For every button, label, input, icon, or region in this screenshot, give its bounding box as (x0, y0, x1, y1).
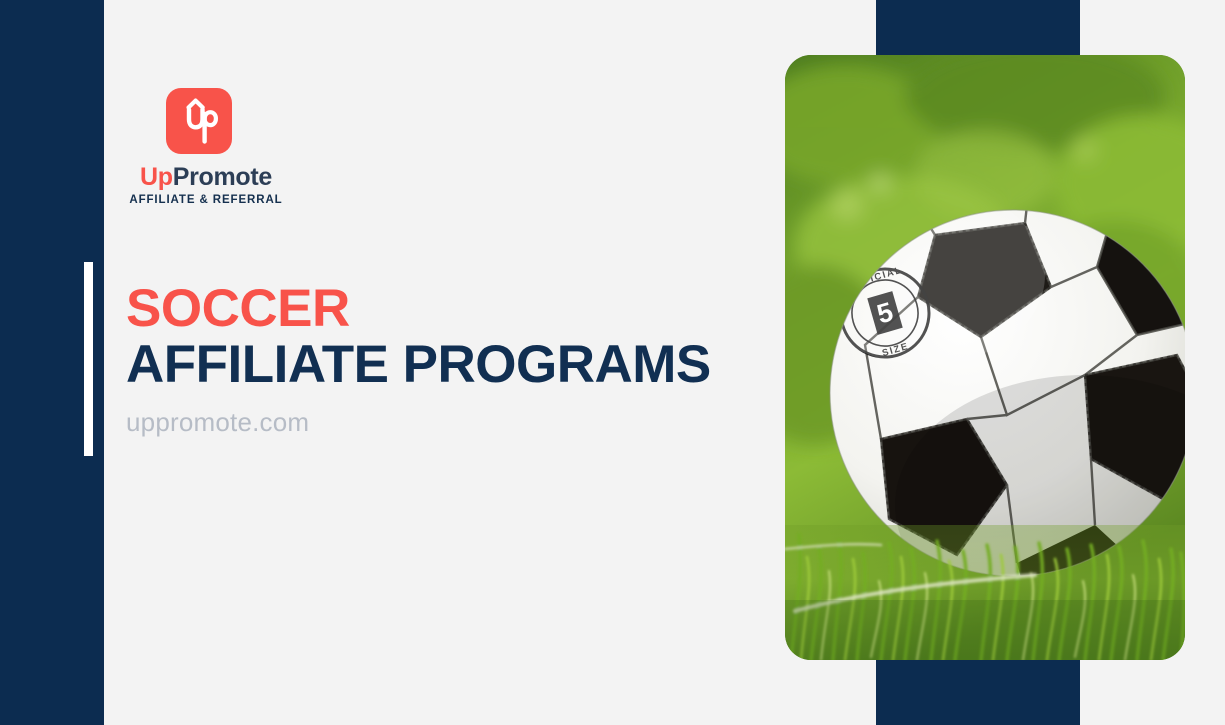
title-line-soccer: SOCCER (126, 283, 746, 334)
banner-canvas: UpPromote AFFILIATE & REFERRAL SOCCER AF… (0, 0, 1225, 725)
wordmark-promote: Promote (173, 163, 272, 191)
headline-block: SOCCER AFFILIATE PROGRAMS uppromote.com (126, 283, 746, 438)
wordmark-up: Up (140, 163, 173, 191)
navy-block-bottom (876, 659, 1080, 725)
site-url-subtitle: uppromote.com (126, 407, 746, 438)
navy-block-top (876, 0, 1080, 57)
soccer-ball-photo: 5 OFFICIAL SIZE (785, 55, 1185, 660)
title-line-affiliate-programs: AFFILIATE PROGRAMS (126, 339, 746, 390)
brand-wordmark: UpPromote (126, 164, 286, 190)
white-accent-bar (84, 262, 93, 456)
brand-tagline: AFFILIATE & REFERRAL (126, 194, 286, 206)
brand-logo: UpPromote AFFILIATE & REFERRAL (126, 88, 286, 206)
uppromote-arrow-up-logo-icon (166, 88, 232, 154)
